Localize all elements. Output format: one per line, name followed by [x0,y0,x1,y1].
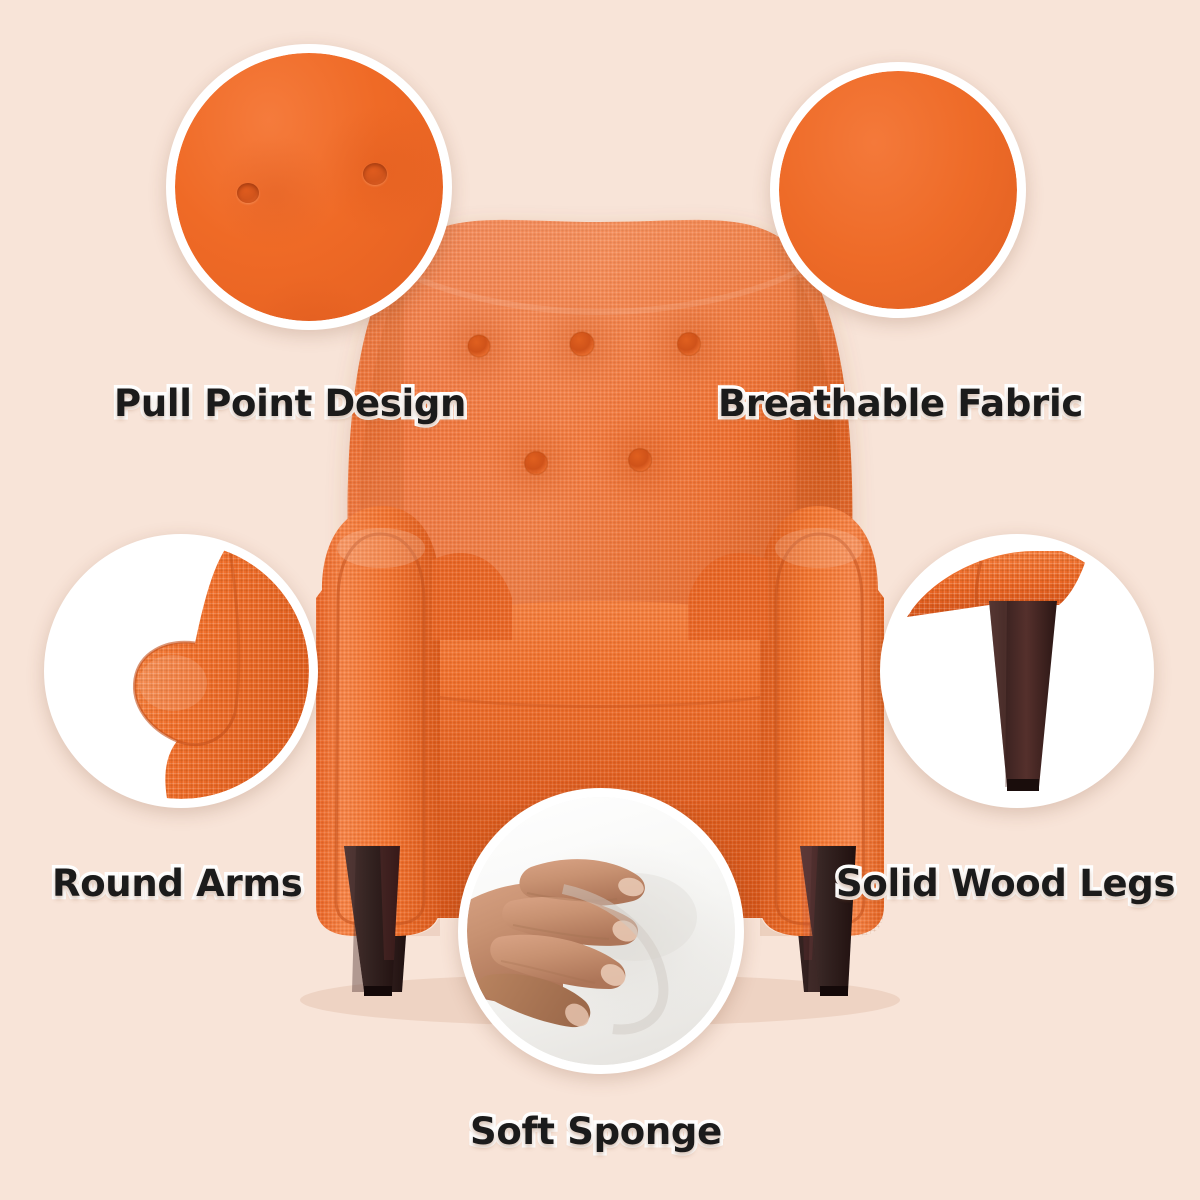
callout-soft-sponge[interactable] [458,788,744,1074]
infographic-canvas: Pull Point Design Breathable Fabric Roun… [0,0,1200,1200]
hand-pressing-foam-icon [467,797,735,1065]
callout-pull-point-design[interactable] [166,44,452,330]
tufted-button-detail-icon [175,53,443,321]
label-pull-point-design: Pull Point Design [114,382,466,425]
label-round-arms: Round Arms [52,862,302,905]
callout-breathable-fabric[interactable] [770,62,1026,318]
rolled-arm-detail-icon [53,543,309,799]
callout-round-arms[interactable] [44,534,318,808]
fabric-weave-detail-icon [779,71,1017,309]
label-soft-sponge: Soft Sponge [470,1110,722,1153]
label-breathable-fabric: Breathable Fabric [718,382,1083,425]
chair-back-tufting-top-row [433,292,737,396]
callout-solid-wood-legs[interactable] [880,534,1154,808]
label-solid-wood-legs: Solid Wood Legs [836,862,1175,905]
wood-leg-detail-icon [889,543,1145,799]
